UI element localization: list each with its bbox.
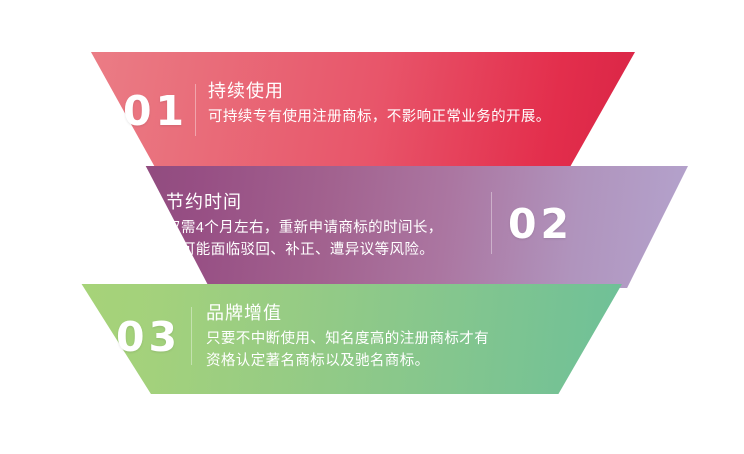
banner-divider-02 — [491, 192, 492, 254]
banner-description-03: 只要不中断使用、知名度高的注册商标才有 资格认定著名商标以及驰名商标。 — [206, 328, 489, 372]
banner-textblock-03: 品牌增值 只要不中断使用、知名度高的注册商标才有 资格认定著名商标以及驰名商标。 — [206, 302, 489, 372]
banner-description-line: 可持续专有使用注册商标，不影响正常业务的开展。 — [208, 106, 551, 128]
banner-description-line: 仅需4个月左右，重新申请商标的时间长， — [166, 217, 443, 239]
banner-description-line: 还可能面临驳回、补正、遭异议等风险。 — [166, 239, 443, 261]
banner-description-02: 仅需4个月左右，重新申请商标的时间长， 还可能面临驳回、补正、遭异议等风险。 — [166, 217, 443, 261]
banner-title-01: 持续使用 — [208, 80, 551, 103]
banner-content-02: 节约时间 仅需4个月左右，重新申请商标的时间长， 还可能面临驳回、补正、遭异议等… — [108, 166, 688, 288]
banner-number-01: 01 — [123, 91, 188, 132]
banner-description-01: 可持续专有使用注册商标，不影响正常业务的开展。 — [208, 106, 551, 128]
banner-content-01: 01 持续使用 可持续专有使用注册商标，不影响正常业务的开展。 — [55, 52, 635, 170]
banner-textblock-02: 节约时间 仅需4个月左右，重新申请商标的时间长， 还可能面临驳回、补正、遭异议等… — [166, 191, 443, 261]
banner-description-line: 只要不中断使用、知名度高的注册商标才有 — [206, 328, 489, 350]
banner-content-03: 03 品牌增值 只要不中断使用、知名度高的注册商标才有 资格认定著名商标以及驰名… — [44, 284, 622, 394]
banner-divider-03 — [191, 307, 192, 365]
banner-title-02: 节约时间 — [166, 191, 443, 214]
banner-item-03[interactable]: 03 品牌增值 只要不中断使用、知名度高的注册商标才有 资格认定著名商标以及驰名… — [44, 284, 622, 394]
infographic-canvas: 01 持续使用 可持续专有使用注册商标，不影响正常业务的开展。 节约时间 仅需4… — [0, 0, 744, 454]
banner-title-03: 品牌增值 — [206, 302, 489, 325]
banner-number-03: 03 — [116, 317, 181, 358]
banner-textblock-01: 持续使用 可持续专有使用注册商标，不影响正常业务的开展。 — [208, 80, 551, 128]
banner-item-02[interactable]: 节约时间 仅需4个月左右，重新申请商标的时间长， 还可能面临驳回、补正、遭异议等… — [108, 166, 688, 288]
banner-description-line: 资格认定著名商标以及驰名商标。 — [206, 350, 489, 372]
banner-number-02: 02 — [508, 204, 573, 245]
banner-divider-01 — [195, 84, 196, 136]
banner-item-01[interactable]: 01 持续使用 可持续专有使用注册商标，不影响正常业务的开展。 — [55, 52, 635, 170]
